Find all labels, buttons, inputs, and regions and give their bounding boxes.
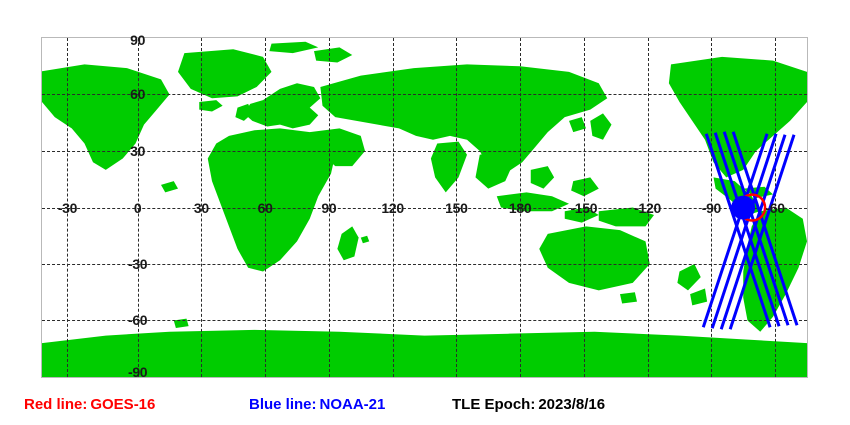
legend-goes16-value: GOES-16 bbox=[90, 396, 155, 413]
world-map-panel: 90 60 30 0 -30 -60 -90 -30 30 60 90 120 … bbox=[41, 37, 808, 378]
legend-bar: Red line:GOES-16 Blue line:NOAA-21 TLE E… bbox=[0, 394, 850, 420]
legend-goes16-key: Red line: bbox=[24, 396, 87, 413]
lon-tick--150: -150 bbox=[570, 201, 597, 215]
lon-tick--90: -90 bbox=[702, 201, 721, 215]
lon-tick-120: 120 bbox=[381, 201, 403, 215]
lon-tick-60: 60 bbox=[258, 201, 273, 215]
legend-goes16: Red line:GOES-16 bbox=[24, 394, 155, 416]
lat-tick-0: 0 bbox=[134, 201, 142, 215]
legend-tle-epoch: TLE Epoch:2023/8/16 bbox=[452, 394, 605, 416]
lon-tick-90: 90 bbox=[321, 201, 336, 215]
lon-tick--60: -60 bbox=[765, 201, 784, 215]
legend-noaa21-key: Blue line: bbox=[249, 396, 317, 413]
legend-noaa21: Blue line:NOAA-21 bbox=[249, 394, 385, 416]
lat-tick--60: -60 bbox=[128, 313, 147, 327]
legend-tle-epoch-key: TLE Epoch: bbox=[452, 396, 535, 413]
map-clip bbox=[42, 38, 807, 377]
lat-tick-30: 30 bbox=[130, 144, 145, 158]
lon-tick-180: 180 bbox=[509, 201, 531, 215]
lat-tick-60: 60 bbox=[130, 87, 145, 101]
lon-tick-30: 30 bbox=[194, 201, 209, 215]
lon-tick-150: 150 bbox=[445, 201, 467, 215]
lat-tick--90: -90 bbox=[128, 365, 147, 379]
lat-tick--30: -30 bbox=[128, 257, 147, 271]
lon-tick--120: -120 bbox=[634, 201, 661, 215]
lat-tick-90: 90 bbox=[130, 33, 145, 47]
lon-tick--30: -30 bbox=[58, 201, 77, 215]
world-landmass bbox=[42, 38, 807, 377]
legend-tle-epoch-value: 2023/8/16 bbox=[538, 396, 605, 413]
legend-noaa21-value: NOAA-21 bbox=[320, 396, 386, 413]
